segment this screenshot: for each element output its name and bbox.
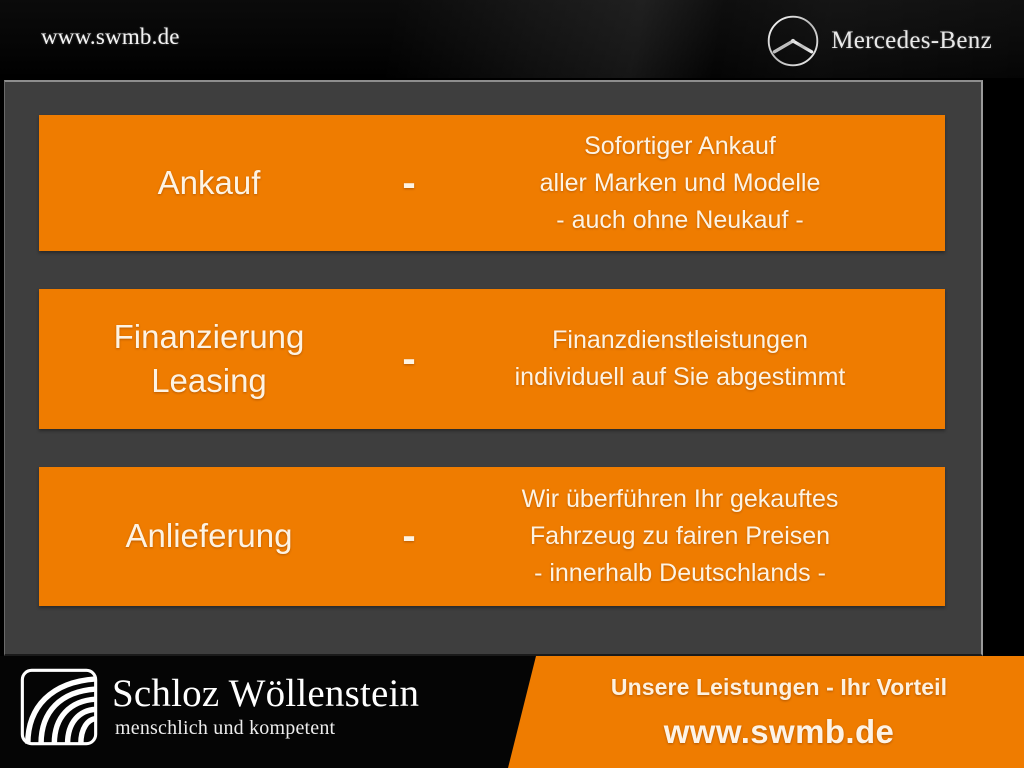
dealer-branding: Schloz Wöllenstein menschlich und kompet… <box>20 668 419 746</box>
footer-bar: Schloz Wöllenstein menschlich und kompet… <box>0 656 1024 768</box>
curved-lines-logo-icon <box>20 668 98 746</box>
service-separator: - <box>379 514 439 559</box>
footer-website-url[interactable]: www.swmb.de <box>548 713 1010 751</box>
mercedes-star-icon <box>766 14 820 68</box>
header-website-url: www.swmb.de <box>41 24 180 50</box>
slide-canvas: www.swmb.de Mercedes-Benz <box>0 0 1024 768</box>
service-block-anlieferung[interactable]: Anlieferung - Wir überführen Ihr gekauft… <box>39 467 945 606</box>
dealer-name: Schloz Wöllenstein <box>112 674 419 714</box>
service-title: Finanzierung Leasing <box>39 315 379 403</box>
footer-message: Unsere Leistungen - Ihr Vorteil www.swmb… <box>548 674 1010 751</box>
services-panel: swmb.de Ankauf - Sofortiger Ankauf aller… <box>4 80 983 656</box>
service-description: Sofortiger Ankauf aller Marken und Model… <box>439 128 945 239</box>
dealer-tagline: menschlich und kompetent <box>115 717 419 740</box>
mercedes-benz-wordmark: Mercedes-Benz <box>831 27 992 55</box>
service-separator: - <box>379 161 439 206</box>
header-bar: www.swmb.de Mercedes-Benz <box>0 0 1024 78</box>
service-block-ankauf[interactable]: Ankauf - Sofortiger Ankauf aller Marken … <box>39 115 945 251</box>
service-description: Wir überführen Ihr gekauftes Fahrzeug zu… <box>439 481 945 592</box>
mercedes-benz-logo: Mercedes-Benz <box>766 14 992 68</box>
service-description: Finanzdienstleistungen individuell auf S… <box>439 322 945 396</box>
service-title: Anlieferung <box>39 514 379 558</box>
service-title: Ankauf <box>39 161 379 205</box>
footer-claim-text: Unsere Leistungen - Ihr Vorteil <box>548 674 1010 701</box>
service-separator: - <box>379 337 439 382</box>
service-block-finanzierung-leasing[interactable]: Finanzierung Leasing - Finanzdienstleist… <box>39 289 945 429</box>
